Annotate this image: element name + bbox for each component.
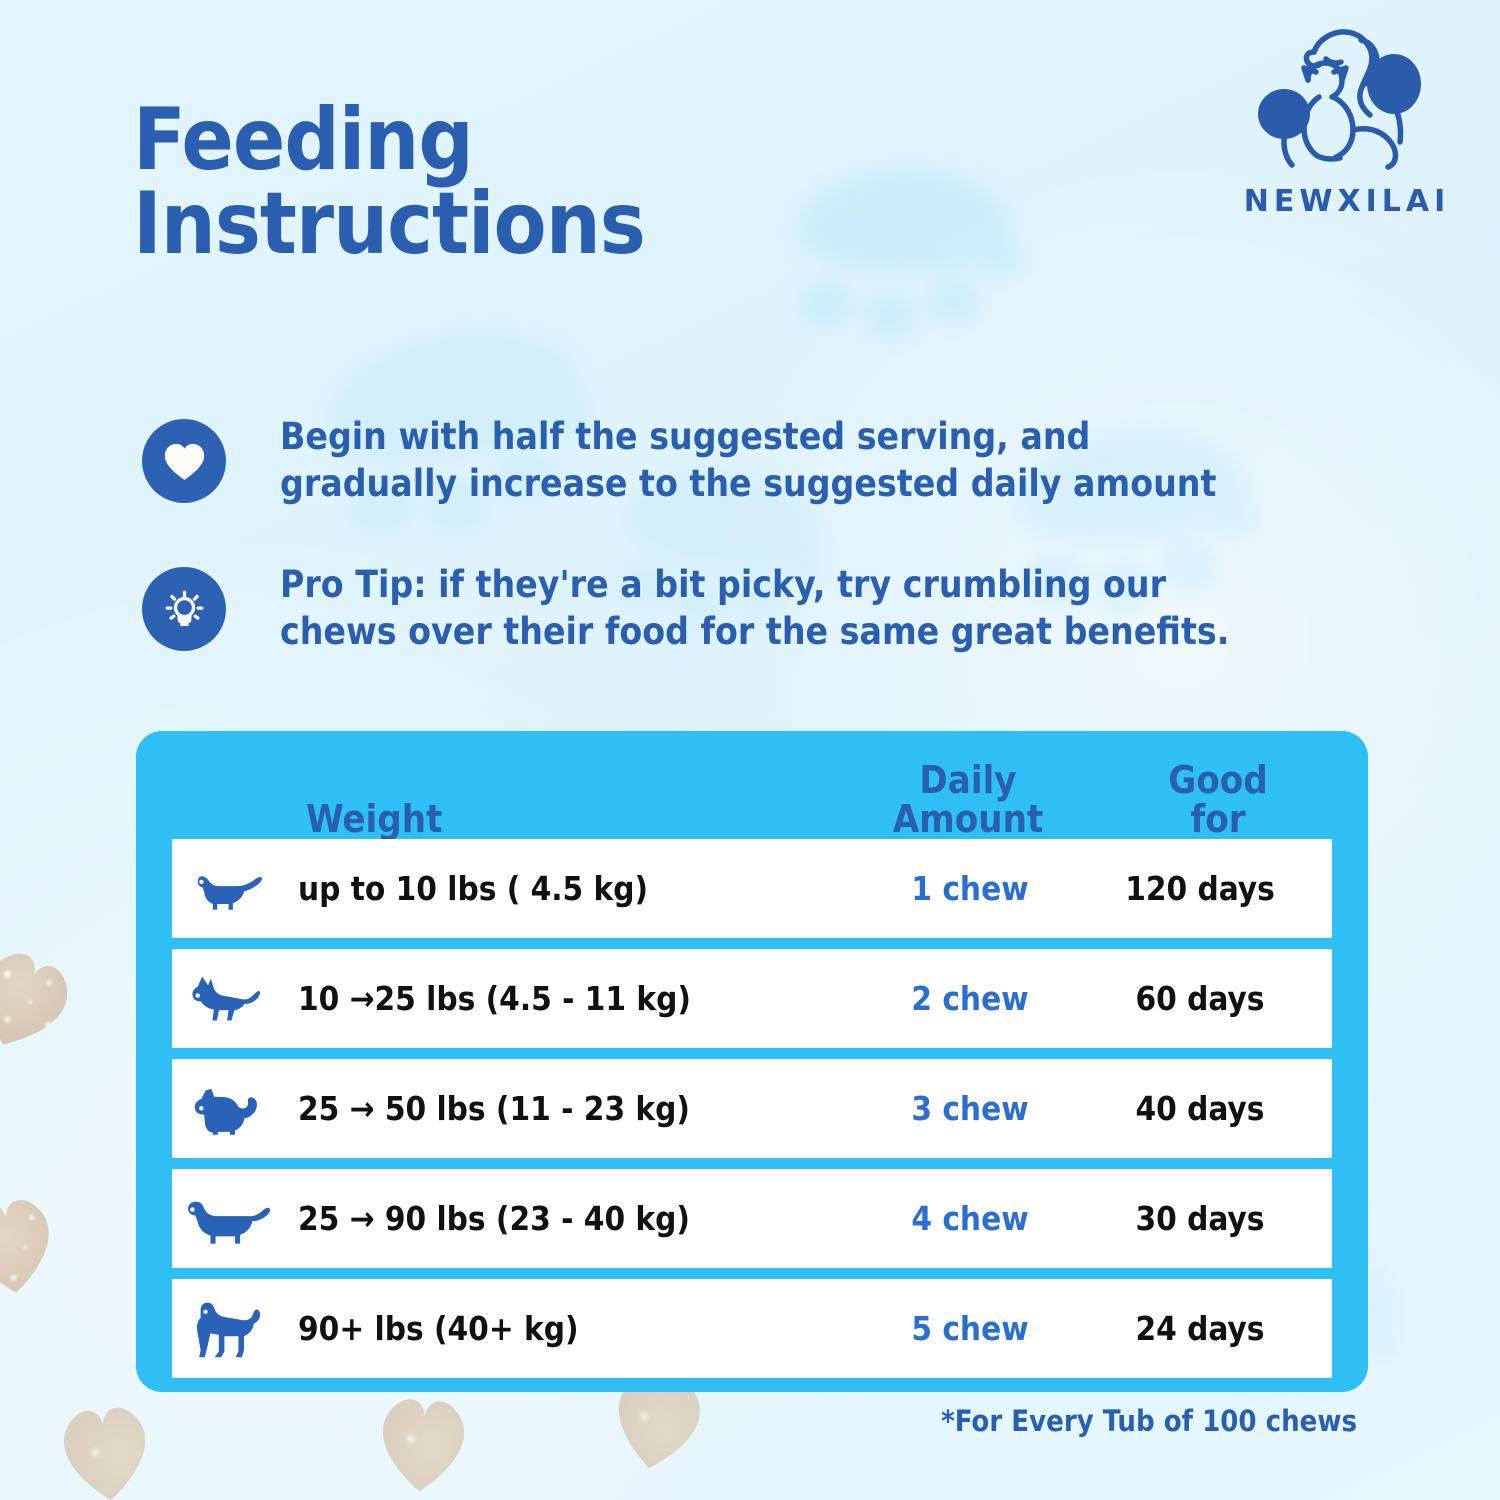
- brand-name: NEWXILAI: [1222, 184, 1472, 219]
- table-row: up to 10 lbs ( 4.5 kg) 1 chew 120 days: [172, 839, 1332, 938]
- cell-daily-amount: 4 chew: [850, 1199, 1090, 1238]
- cell-weight: 25 → 90 lbs (23 - 40 kg): [288, 1199, 850, 1238]
- header-weight: Weight: [288, 800, 848, 839]
- chew-treat-image: [0, 1187, 100, 1334]
- header-good-for: Good for: [1088, 761, 1348, 839]
- table-header-row: Weight Daily Amount Good for: [136, 731, 1368, 845]
- table-row: 25 → 90 lbs (23 - 40 kg) 4 chew 30 days: [172, 1169, 1332, 1268]
- header-daily-amount: Daily Amount: [848, 761, 1088, 839]
- instruction-bullet-text: Begin with half the suggested serving, a…: [280, 413, 1216, 508]
- chihuahua-icon: [172, 969, 288, 1028]
- feeding-instructions-page: Feeding Instructions: [0, 0, 1500, 1500]
- cell-weight: 10 →25 lbs (4.5 - 11 kg): [288, 979, 850, 1018]
- labrador-icon: [172, 1190, 288, 1248]
- cell-good-for: 24 days: [1090, 1309, 1332, 1348]
- cell-good-for: 30 days: [1090, 1199, 1332, 1238]
- paw-watermark-icon: [795, 165, 1015, 355]
- cell-daily-amount: 1 chew: [850, 869, 1090, 908]
- table-row: 90+ lbs (40+ kg) 5 chew 24 days: [172, 1279, 1332, 1378]
- instruction-bullet-text: Pro Tip: if they're a bit picky, try cru…: [280, 561, 1229, 656]
- husky-icon: [172, 1080, 288, 1138]
- table-row: 10 →25 lbs (4.5 - 11 kg) 2 chew 60 days: [172, 949, 1332, 1048]
- chew-treat-image: [0, 937, 101, 1089]
- cell-daily-amount: 3 chew: [850, 1089, 1090, 1128]
- footnote: *For Every Tub of 100 chews: [0, 1404, 1357, 1438]
- dog-and-cat-logo-icon: [1222, 18, 1472, 178]
- cell-weight: up to 10 lbs ( 4.5 kg): [288, 869, 850, 908]
- feeding-table: Weight Daily Amount Good for up to 10 lb…: [136, 731, 1368, 1392]
- instruction-bullet-protip: Pro Tip: if they're a bit picky, try cru…: [142, 561, 1229, 656]
- great-dane-icon: [172, 1297, 288, 1360]
- puppy-icon: [172, 864, 288, 914]
- heart-icon: [142, 419, 226, 503]
- lightbulb-icon: [142, 567, 226, 651]
- cell-daily-amount: 5 chew: [850, 1309, 1090, 1348]
- cell-weight: 90+ lbs (40+ kg): [288, 1309, 850, 1348]
- table-row: 25 → 50 lbs (11 - 23 kg) 3 chew 40 days: [172, 1059, 1332, 1158]
- cell-good-for: 120 days: [1090, 869, 1332, 908]
- cell-good-for: 40 days: [1090, 1089, 1332, 1128]
- cell-good-for: 60 days: [1090, 979, 1332, 1018]
- page-title: Feeding Instructions: [133, 98, 645, 267]
- cell-daily-amount: 2 chew: [850, 979, 1090, 1018]
- instruction-bullet-serving: Begin with half the suggested serving, a…: [142, 413, 1216, 508]
- cell-weight: 25 → 50 lbs (11 - 23 kg): [288, 1089, 850, 1128]
- table-body: up to 10 lbs ( 4.5 kg) 1 chew 120 days 1…: [172, 839, 1332, 1378]
- brand-logo: NEWXILAI: [1222, 18, 1472, 223]
